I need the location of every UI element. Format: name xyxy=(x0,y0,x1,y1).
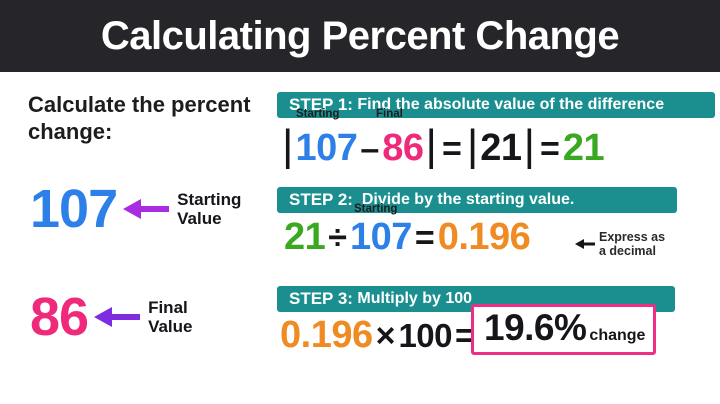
step-2-difference: 21 xyxy=(284,218,325,256)
final-value-row: 86 Final Value xyxy=(30,290,193,344)
equals-operator-2: = xyxy=(537,132,563,166)
final-answer-value: 19.6% xyxy=(484,309,586,348)
step-1-final-label: Final xyxy=(376,108,403,120)
abs-bar-open: | xyxy=(280,124,295,168)
starting-value-number: 107 xyxy=(30,182,117,236)
step-2-starting-value: 107 xyxy=(350,218,412,256)
equals-operator-3: = xyxy=(412,221,438,255)
problem-panel: Calculate the percent change: 107 Starti… xyxy=(0,72,272,404)
abs-bar-close-2: | xyxy=(522,124,537,168)
steps-panel: STEP 1: Find the absolute value of the d… xyxy=(272,72,720,404)
step-1-final-value: 86 xyxy=(382,129,423,167)
step-1-starting-label: Starting xyxy=(296,108,339,120)
arrow-left-icon xyxy=(123,197,169,221)
abs-bar-open-2: | xyxy=(465,124,480,168)
step-3-number: STEP 3: xyxy=(289,289,353,309)
final-value-label: Final Value xyxy=(148,298,192,336)
final-value-number: 86 xyxy=(30,290,88,344)
step-3-hundred: 100 xyxy=(398,319,452,352)
step-3-equation: 0.196 × 100 = xyxy=(280,316,478,354)
starting-value-row: 107 Starting Value xyxy=(30,182,241,236)
step-2-equation: 21 ÷ 107 = 0.196 xyxy=(284,218,530,256)
step-3-text: Multiply by 100 xyxy=(353,290,472,308)
equals-operator-1: = xyxy=(439,132,465,166)
step-1-starting-value: 107 xyxy=(295,129,357,167)
step-1-difference: 21 xyxy=(480,129,521,167)
step-2-number: STEP 2: xyxy=(289,190,353,210)
step-1-header: STEP 1: Find the absolute value of the d… xyxy=(277,92,715,118)
abs-bar-close: | xyxy=(424,124,439,168)
divide-operator: ÷ xyxy=(325,221,350,255)
times-operator: × xyxy=(373,319,399,353)
problem-prompt: Calculate the percent change: xyxy=(28,92,258,146)
decimal-annotation: Express as a decimal xyxy=(575,230,665,259)
minus-operator: – xyxy=(357,132,382,166)
step-1-result: 21 xyxy=(563,129,604,167)
step-1-equation: | 107 – 86 | = | 21 | = 21 xyxy=(280,124,604,168)
final-answer-suffix: change xyxy=(589,327,645,345)
step-2-header: STEP 2: Divide by the starting value. xyxy=(277,187,677,213)
final-answer-box: 19.6% change xyxy=(471,304,656,355)
arrow-left-icon xyxy=(94,305,140,329)
step-2-quotient: 0.196 xyxy=(438,218,531,256)
starting-value-label: Starting Value xyxy=(177,190,241,228)
step-3-quotient: 0.196 xyxy=(280,316,373,354)
page-header: Calculating Percent Change xyxy=(0,0,720,72)
decimal-annotation-text: Express as a decimal xyxy=(599,230,665,259)
page-title: Calculating Percent Change xyxy=(101,16,619,56)
arrow-left-icon xyxy=(575,237,595,251)
step-2-starting-label: Starting xyxy=(354,203,397,215)
